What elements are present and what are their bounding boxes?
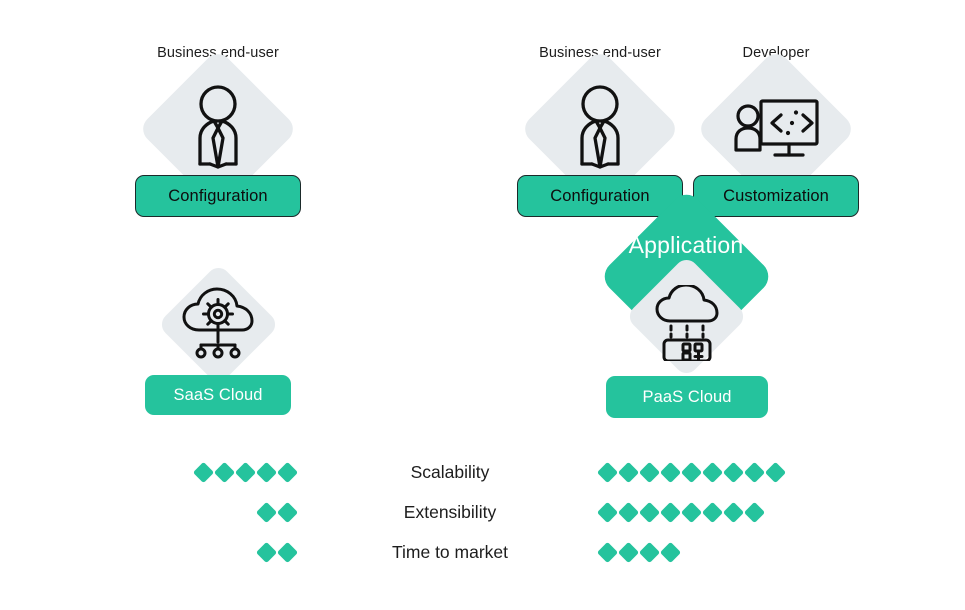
metric-label-2: Time to market	[315, 532, 585, 572]
metric-row: Extensibility	[0, 492, 965, 532]
rating-diamond	[660, 541, 681, 562]
business-person-icon	[568, 84, 632, 170]
rating-diamond	[681, 501, 702, 522]
customization-pill[interactable]: Customization	[693, 175, 859, 217]
rating-diamond	[660, 461, 681, 482]
rating-diamond	[277, 541, 298, 562]
cloud-gear-network-icon	[179, 287, 257, 359]
left-configuration-label: Configuration	[168, 187, 267, 206]
rating-diamond	[618, 461, 639, 482]
rating-diamond	[597, 461, 618, 482]
application-label: Application	[586, 232, 786, 258]
rating-diamond	[235, 461, 256, 482]
saas-cloud-label: SaaS Cloud	[173, 386, 262, 405]
rating-diamond	[597, 541, 618, 562]
rating-diamond	[702, 461, 723, 482]
left-rating-2	[259, 532, 295, 572]
rating-diamond	[256, 501, 277, 522]
left-configuration-pill[interactable]: Configuration	[135, 175, 301, 217]
right-rating-2-wrap	[600, 532, 900, 572]
rating-diamond	[597, 501, 618, 522]
rating-diamond	[639, 461, 660, 482]
rating-diamond	[214, 461, 235, 482]
right-rating-1-wrap	[600, 492, 900, 532]
rating-diamond	[639, 501, 660, 522]
rating-diamond	[744, 461, 765, 482]
rating-diamond	[618, 501, 639, 522]
rating-diamond	[256, 461, 277, 482]
rating-diamond	[639, 541, 660, 562]
left-rating-0-wrap	[100, 452, 295, 492]
rating-diamond	[702, 501, 723, 522]
cloud-server-modules-icon	[654, 285, 720, 361]
rating-diamond	[618, 541, 639, 562]
customization-label: Customization	[723, 187, 829, 206]
rating-diamond	[765, 461, 786, 482]
metric-row: Time to market	[0, 532, 965, 572]
left-rating-1-wrap	[100, 492, 295, 532]
right-rating-1	[600, 492, 762, 532]
saas-cloud-pill[interactable]: SaaS Cloud	[145, 375, 291, 415]
rating-diamond	[723, 461, 744, 482]
rating-diamond	[681, 461, 702, 482]
right-configuration-pill[interactable]: Configuration	[517, 175, 683, 217]
left-rating-2-wrap	[100, 532, 295, 572]
metric-label-1: Extensibility	[315, 492, 585, 532]
right-rating-2	[600, 532, 678, 572]
business-person-icon	[186, 84, 250, 170]
metric-label-0: Scalability	[315, 452, 585, 492]
left-rating-1	[259, 492, 295, 532]
rating-diamond	[277, 461, 298, 482]
metric-row: Scalability	[0, 452, 965, 492]
rating-diamond	[256, 541, 277, 562]
paas-cloud-label: PaaS Cloud	[642, 388, 731, 407]
rating-diamond	[744, 501, 765, 522]
rating-diamond	[723, 501, 744, 522]
left-rating-0	[196, 452, 295, 492]
right-rating-0-wrap	[600, 452, 900, 492]
right-rating-0	[600, 452, 783, 492]
rating-diamond	[660, 501, 681, 522]
developer-monitor-code-icon	[734, 95, 820, 163]
paas-cloud-pill[interactable]: PaaS Cloud	[606, 376, 768, 418]
right-configuration-label: Configuration	[550, 187, 649, 206]
diagram-canvas: Business end-user Configuration	[0, 0, 965, 610]
rating-diamond	[193, 461, 214, 482]
comparison-metrics: Scalability Extensibility Time to market	[0, 452, 965, 572]
rating-diamond	[277, 501, 298, 522]
